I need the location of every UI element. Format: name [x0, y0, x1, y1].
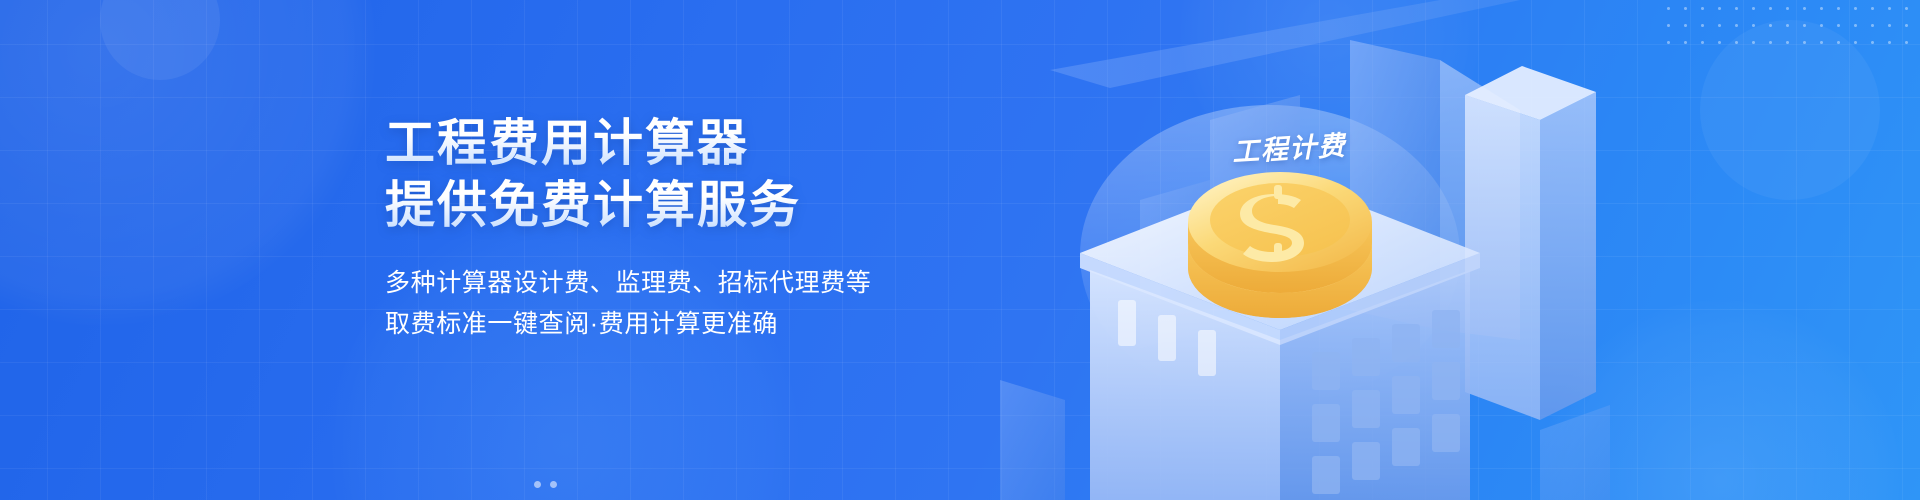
foreground-bar-left	[1000, 380, 1065, 500]
banner-illustration: 工程计费	[880, 0, 1920, 500]
carousel-dot-1[interactable]	[534, 481, 541, 488]
foreground-bar-right	[1540, 405, 1610, 500]
illustration-badge-label: 工程计费	[1231, 124, 1347, 170]
promo-banner: 工程费用计算器 提供免费计算服务 多种计算器设计费、监理费、招标代理费等 取费标…	[0, 0, 1920, 500]
isometric-city-coin-illustration	[880, 0, 1920, 500]
carousel-dot-2[interactable]	[550, 481, 557, 488]
carousel-dots[interactable]	[534, 481, 557, 488]
gold-coin-stack	[1188, 172, 1372, 318]
tower-right-side	[1540, 92, 1596, 420]
